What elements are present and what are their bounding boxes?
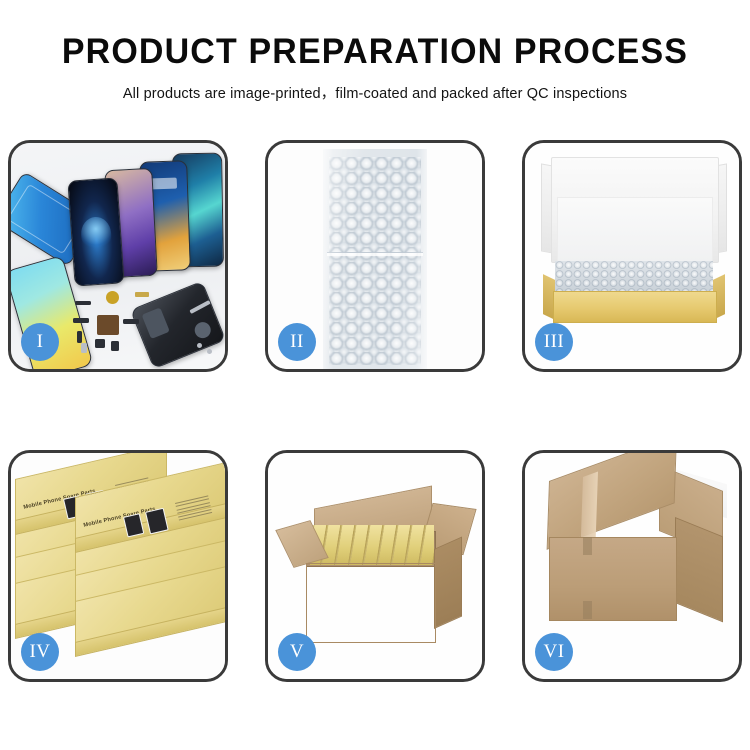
process-step-grid: I II <box>8 140 742 682</box>
step-panel-2: II <box>265 140 485 372</box>
step-panel-5: V <box>265 450 485 682</box>
carton-right-side-graphic <box>675 517 723 622</box>
spare-part-battery-graphic <box>81 343 87 353</box>
page-title: PRODUCT PREPARATION PROCESS <box>11 34 739 69</box>
spare-part-bracket-graphic <box>73 318 89 323</box>
carton-right-side-graphic <box>434 537 462 629</box>
carton-seam-upper-graphic <box>583 537 592 555</box>
step-panel-4: Mobile Phone Spare Parts <box>8 450 228 682</box>
step-badge-4: IV <box>21 633 59 671</box>
bubble-wrap-sleeve-graphic <box>323 149 427 369</box>
header: PRODUCT PREPARATION PROCESS All products… <box>0 0 750 103</box>
inner-bubble-pattern-graphic <box>555 261 713 293</box>
spare-part-screw-2-graphic <box>207 349 212 354</box>
spare-part-ribbon-graphic <box>123 319 139 324</box>
spare-part-screw-graphic <box>197 343 202 348</box>
carton-front-face-graphic <box>306 563 436 643</box>
stacked-box <box>75 601 225 623</box>
carton-front-face-graphic <box>549 537 677 621</box>
spare-part-board-graphic <box>97 315 119 335</box>
spare-part-camera-graphic <box>95 339 105 348</box>
step-badge-6: VI <box>535 633 573 671</box>
box-front-panel-graphic <box>553 291 717 323</box>
infographic-page: PRODUCT PREPARATION PROCESS All products… <box>0 0 750 750</box>
wrap-sheen-graphic <box>323 149 427 369</box>
stacked-box-printed: Mobile Phone Spare Parts <box>75 497 225 519</box>
spare-part-pin-graphic <box>77 331 82 343</box>
step-badge-5: V <box>278 633 316 671</box>
bubble-wrapped-contents-graphic <box>555 261 713 293</box>
page-subtitle: All products are image-printed，film-coat… <box>0 82 750 103</box>
dark-screen-phone-graphic <box>67 177 124 286</box>
step-badge-3: III <box>535 323 573 361</box>
open-inner-box-graphic <box>541 157 727 335</box>
foam-sheet-graphic <box>557 197 713 263</box>
carton-seam-lower-graphic <box>583 601 592 619</box>
phone-wallpaper-graphic <box>80 216 112 252</box>
sealed-shipping-carton-graphic <box>539 481 729 649</box>
step-badge-1: I <box>21 323 59 361</box>
step-badge-2: II <box>278 323 316 361</box>
step-panel-1: I <box>8 140 228 372</box>
spare-part-flex-cable-graphic <box>135 292 149 297</box>
spare-part-coil-graphic <box>106 291 119 304</box>
step-panel-3: III <box>522 140 742 372</box>
open-shipping-carton-graphic <box>288 479 466 659</box>
spare-part-connector-graphic <box>75 301 91 305</box>
carton-contents-graphic <box>310 525 434 565</box>
step-panel-6: VI <box>522 450 742 682</box>
spare-part-speaker-graphic <box>111 341 119 351</box>
